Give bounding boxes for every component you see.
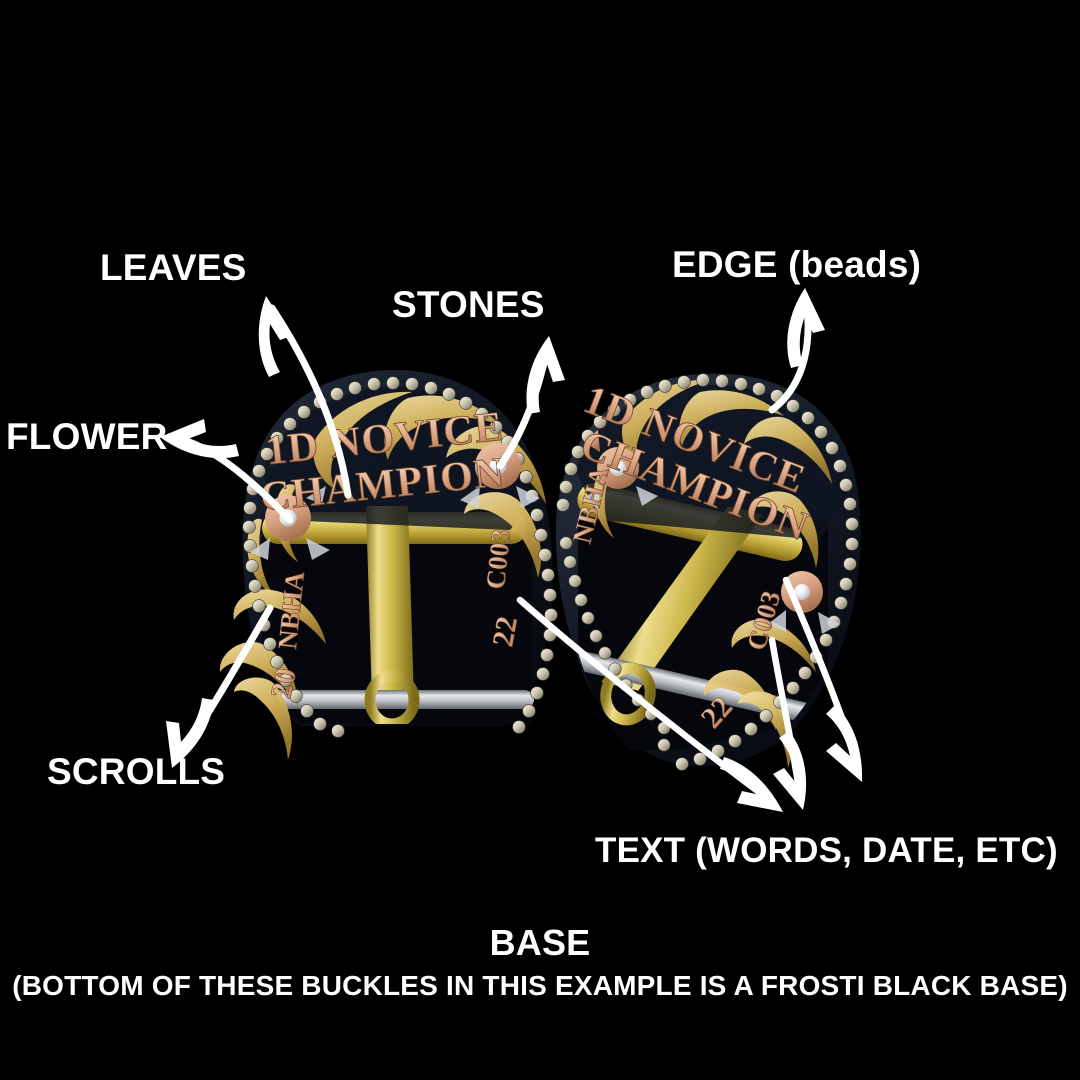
label-text: TEXT (WORDS, DATE, ETC) (595, 833, 1058, 868)
buckle-left: 1D NOVICE CHAMPION NBHA 20 C003 22 (220, 370, 558, 760)
year-right-left: 22 (486, 614, 524, 649)
label-stones: STONES (392, 286, 545, 323)
stone-right-bottom (794, 584, 810, 600)
diagram-canvas: 1D NOVICE CHAMPION NBHA C003 22 (0, 0, 1080, 1080)
label-base-note: (BOTTOM OF THESE BUCKLES IN THIS EXAMPLE… (0, 972, 1080, 1000)
buckle-photo: 1D NOVICE CHAMPION NBHA C003 22 (0, 0, 1080, 1080)
label-edge: EDGE (beads) (672, 246, 921, 283)
buckle-right: 1D NOVICE CHAMPION NBHA C003 22 (556, 374, 861, 771)
code-left: C003 (480, 528, 516, 591)
label-flower: FLOWER (6, 418, 168, 455)
label-scrolls: SCROLLS (47, 753, 225, 790)
label-base: BASE (0, 925, 1080, 961)
label-leaves: LEAVES (100, 249, 247, 286)
